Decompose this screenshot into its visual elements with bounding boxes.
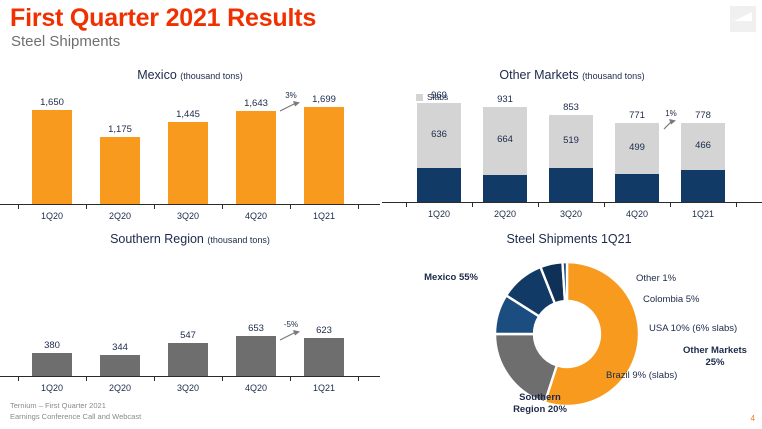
chart-other-markets: Other Markets (thousand tons) Slabs 9696… [382,68,762,223]
donut-label-other: Other 1% [636,273,676,285]
other-markets-axis-line [382,202,762,203]
southern-region-category-label: 1Q20 [22,383,82,393]
mexico-axis-tick [358,204,359,209]
southern-region-axis-line [0,376,380,377]
southern-region-bar-value: 380 [22,340,82,351]
other-markets-bar-slabs-value: 519 [541,135,601,146]
other-markets-axis-tick [670,202,671,207]
donut-label-usa: USA 10% (6% slabs) [649,323,737,335]
other-markets-bar-other [615,174,659,202]
donut-label-brazil: Brazil 9% (slabs) [606,370,677,382]
chart-donut-title: Steel Shipments 1Q21 [388,232,750,246]
mexico-growth-label: 3% [278,91,304,100]
southern-region-bar-value: 653 [226,323,286,334]
chart-southern-region-plot: 3803445476536231Q202Q203Q204Q201Q21-5% [0,232,380,394]
other-markets-bar-total-value: 969 [409,90,469,101]
southern-region-axis-tick [154,376,155,381]
southern-region-category-label: 3Q20 [158,383,218,393]
other-markets-bar-slabs-value: 636 [409,129,469,140]
mexico-axis-tick [86,204,87,209]
donut-label-colombia: Colombia 5% [643,294,700,306]
southern-region-axis-tick [222,376,223,381]
donut-label-southern-l2: Region 20% [486,404,594,416]
ternium-logo-icon [730,6,756,32]
southern-region-bar [32,353,72,376]
southern-region-axis-tick [18,376,19,381]
mexico-category-label: 1Q20 [22,211,82,221]
mexico-category-label: 1Q21 [294,211,354,221]
other-markets-growth-label: 1% [658,109,684,118]
chart-steel-shipments-donut: Steel Shipments 1Q21 Mexico 55% Other 1%… [400,232,762,422]
other-markets-axis-tick [604,202,605,207]
other-markets-axis-tick [406,202,407,207]
mexico-axis-tick [18,204,19,209]
other-markets-bar-other [417,168,461,202]
southern-region-category-label: 1Q21 [294,383,354,393]
footer: Ternium – First Quarter 2021 Earnings Co… [10,401,141,423]
southern-region-axis-tick [290,376,291,381]
southern-region-bar [236,336,276,376]
mexico-bar [304,107,344,204]
donut-label-other-markets-l2: 25% [668,357,762,369]
southern-region-axis-tick [86,376,87,381]
other-markets-category-label: 1Q20 [409,209,469,219]
page-number: 4 [751,414,755,423]
slide: First Quarter 2021 Results Steel Shipmen… [0,0,762,429]
southern-region-bar [304,338,344,376]
mexico-bar-value: 1,445 [158,109,218,120]
other-markets-bar-total-value: 931 [475,94,535,105]
southern-region-bar-value: 344 [90,342,150,353]
mexico-axis-tick [290,204,291,209]
other-markets-bar-other [681,170,725,202]
donut-label-southern-region: Southern Region 20% [486,392,594,417]
mexico-category-label: 4Q20 [226,211,286,221]
footer-line-2: Earnings Conference Call and Webcast [10,412,141,423]
mexico-bar-value: 1,643 [226,98,286,109]
other-markets-category-label: 1Q21 [673,209,733,219]
chart-mexico: Mexico (thousand tons) 1,6501,1751,4451,… [0,68,380,223]
southern-region-bar-value: 547 [158,330,218,341]
mexico-bar-value: 1,175 [90,124,150,135]
footer-line-1: Ternium – First Quarter 2021 [10,401,141,412]
other-markets-category-label: 4Q20 [607,209,667,219]
other-markets-category-label: 2Q20 [475,209,535,219]
mexico-bar-value: 1,650 [22,97,82,108]
southern-region-category-label: 4Q20 [226,383,286,393]
donut-svg [492,259,642,409]
other-markets-axis-tick [736,202,737,207]
southern-region-bar [168,343,208,376]
mexico-axis-tick [154,204,155,209]
southern-region-growth-arrow-icon [279,329,301,343]
chart-other-markets-plot: 9696369316648535197714997784661Q202Q203Q… [382,68,762,223]
mexico-bar [236,111,276,204]
southern-region-axis-tick [358,376,359,381]
logo-triangle-icon [734,12,752,21]
mexico-bar [168,122,208,204]
donut-label-other-markets-l1: Other Markets [668,345,762,357]
chart-mexico-plot: 1,6501,1751,4451,6431,6991Q202Q203Q204Q2… [0,68,380,223]
other-markets-axis-tick [472,202,473,207]
other-markets-bar-slabs-value: 664 [475,134,535,145]
mexico-category-label: 3Q20 [158,211,218,221]
southern-region-bar [100,355,140,376]
mexico-axis-line [0,204,380,205]
southern-region-growth-label: -5% [278,320,304,329]
mexico-bar [100,137,140,204]
donut-label-southern-l1: Southern [486,392,594,404]
page-subtitle: Steel Shipments [11,33,120,50]
chart-southern-region: Southern Region (thousand tons) 38034454… [0,232,380,394]
page-title: First Quarter 2021 Results [10,4,316,33]
mexico-axis-tick [222,204,223,209]
other-markets-bar-slabs-value: 499 [607,142,667,153]
other-markets-bar-other [483,175,527,202]
mexico-category-label: 2Q20 [90,211,150,221]
other-markets-bar-total-value: 853 [541,102,601,113]
donut-graphic [492,259,642,409]
mexico-growth-arrow-icon [279,100,301,114]
other-markets-bar-slabs-value: 466 [673,140,733,151]
southern-region-category-label: 2Q20 [90,383,150,393]
other-markets-bar-other [549,168,593,202]
donut-label-other-markets: Other Markets 25% [668,345,762,370]
other-markets-growth-arrow-icon [663,118,677,132]
other-markets-axis-tick [538,202,539,207]
donut-label-mexico: Mexico 55% [372,272,478,284]
other-markets-category-label: 3Q20 [541,209,601,219]
mexico-bar [32,110,72,204]
